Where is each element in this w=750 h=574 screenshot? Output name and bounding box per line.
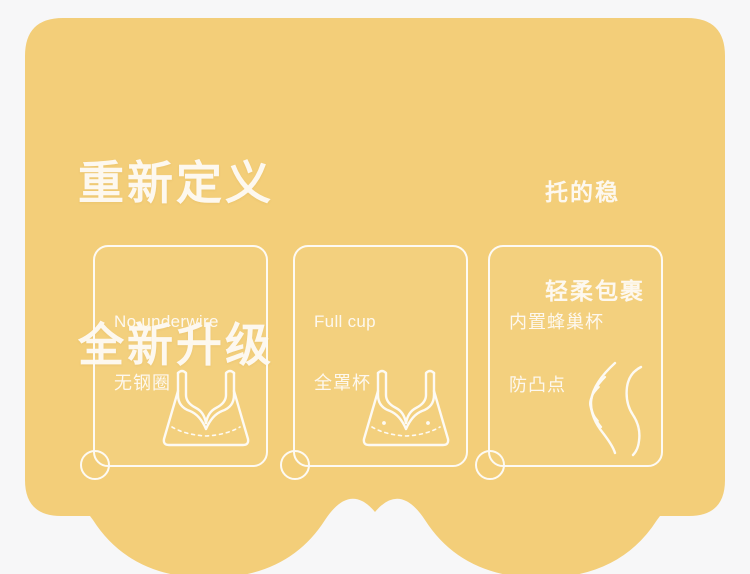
feature-title-en: No underwire (114, 309, 219, 334)
bralette-dots-icon (356, 361, 456, 453)
headline-line-1: 重新定义 (78, 156, 274, 210)
subheadline-line-1: 托的稳 (545, 176, 645, 209)
feature-card-honeycomb-cup[interactable]: 内置蜂巢杯 防凸点 (488, 245, 663, 467)
feature-title-en: Full cup (314, 309, 376, 334)
corner-circle-icon (80, 450, 110, 480)
corner-circle-icon (280, 450, 310, 480)
bralette-icon (156, 361, 256, 453)
feature-card-no-underwire[interactable]: No underwire 无钢圈 (93, 245, 268, 467)
body-curve-icon (571, 357, 657, 457)
feature-card-list: No underwire 无钢圈 Full cup 全罩杯 (93, 245, 663, 467)
corner-circle-icon (475, 450, 505, 480)
feature-card-full-cup[interactable]: Full cup 全罩杯 (293, 245, 468, 467)
promo-banner-stage: 重新定义 全新升级 托的稳 轻柔包裹 No underwire 无钢圈 (0, 0, 750, 574)
feature-title-en: 内置蜂巢杯 (509, 309, 604, 336)
